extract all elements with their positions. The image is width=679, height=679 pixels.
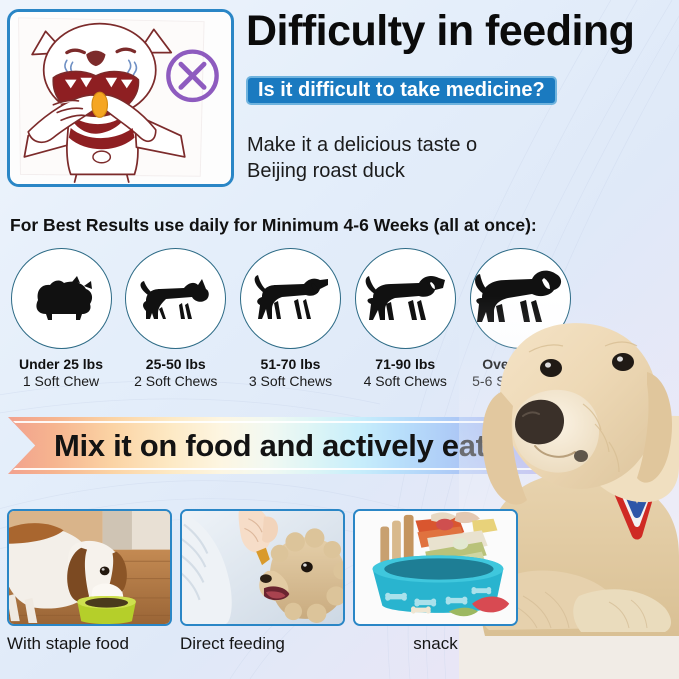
dose-item-25-50: 25-50 lbs 2 Soft Chews bbox=[123, 248, 229, 393]
photo-frame-2 bbox=[180, 509, 345, 626]
crying-dog-illustration-frame bbox=[7, 9, 234, 187]
photo-caption-2: Direct feeding bbox=[180, 634, 345, 654]
pointer-silhouette-icon bbox=[248, 271, 334, 327]
beagle-eating-from-green-bowl-image bbox=[9, 511, 170, 624]
dose-count-label: 3 Soft Chews bbox=[238, 373, 344, 389]
dose-item-71-90: 71-90 lbs 4 Soft Chews bbox=[352, 248, 458, 393]
photo-caption-3: snack bbox=[353, 634, 518, 654]
dose-count-label: 1 Soft Chew bbox=[8, 373, 114, 389]
corgi-silhouette-icon bbox=[136, 273, 216, 325]
crying-dog-forced-pill-icon bbox=[10, 12, 231, 184]
dose-circle-3 bbox=[240, 248, 341, 349]
dose-weight-label: 71-90 lbs bbox=[352, 356, 458, 372]
usage-photo-row: With staple food bbox=[7, 509, 518, 679]
hand-feeding-chew-to-poodle-image bbox=[182, 511, 343, 624]
page-title: Difficulty in feeding bbox=[246, 8, 676, 54]
dose-circle-4 bbox=[355, 248, 456, 349]
hero-subtitle-line-1: Make it a delicious taste o bbox=[247, 132, 647, 158]
usage-card-snack: snack bbox=[353, 509, 518, 679]
hero-subtitle: Make it a delicious taste o Beijing roas… bbox=[247, 132, 647, 185]
labrador-silhouette-icon bbox=[361, 270, 449, 328]
dose-item-51-70: 51-70 lbs 3 Soft Chews bbox=[238, 248, 344, 393]
dose-circle-2 bbox=[125, 248, 226, 349]
usage-card-direct-feeding: Direct feeding bbox=[180, 509, 345, 679]
pomeranian-silhouette-icon bbox=[24, 274, 98, 324]
blue-bone-bowl-with-chew-sticks-image bbox=[355, 511, 516, 624]
photo-frame-1 bbox=[7, 509, 172, 626]
dose-item-under-25: Under 25 lbs 1 Soft Chew bbox=[8, 248, 114, 393]
dose-weight-label: 25-50 lbs bbox=[123, 356, 229, 372]
photo-caption-1: With staple food bbox=[7, 634, 172, 654]
dose-count-label: 2 Soft Chews bbox=[123, 373, 229, 389]
dose-circle-1 bbox=[11, 248, 112, 349]
usage-card-staple-food: With staple food bbox=[7, 509, 172, 679]
dose-weight-label: Under 25 lbs bbox=[8, 356, 114, 372]
product-infographic: Difficulty in feeding Is it difficult to… bbox=[0, 0, 679, 679]
hero-subtitle-line-2: Beijing roast duck bbox=[247, 158, 647, 184]
status-badge: Is it difficult to take medicine? bbox=[246, 76, 557, 105]
photo-frame-3 bbox=[353, 509, 518, 626]
dose-weight-label: 51-70 lbs bbox=[238, 356, 344, 372]
dosage-heading: For Best Results use daily for Minimum 4… bbox=[10, 215, 537, 236]
dose-count-label: 4 Soft Chews bbox=[352, 373, 458, 389]
